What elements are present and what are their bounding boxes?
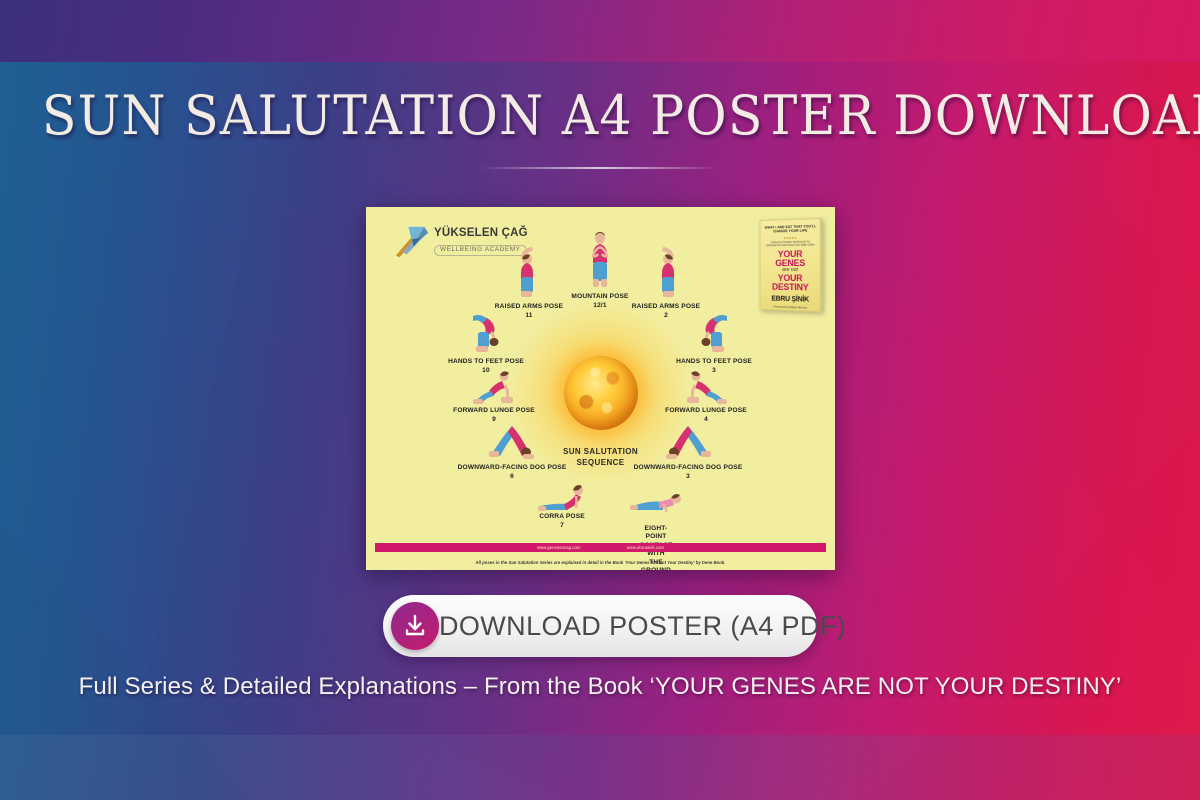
brand-subtitle: WELLBEING ACADEMY — [434, 245, 527, 256]
yoga-figure-icon — [471, 369, 517, 405]
pose-number: 12/1 — [571, 302, 628, 311]
yoga-figure-icon — [469, 312, 503, 358]
background-band-top — [0, 0, 1200, 62]
pose-number: 6 — [458, 473, 567, 482]
book-cover: WHAT I AND EAT THAT YOU'LL CHANGE YOUR L… — [760, 218, 822, 312]
title-block: SUN SALUTATION A4 POSTER DOWNLOAD — [0, 84, 1200, 169]
yoga-figure-icon — [536, 482, 588, 512]
pose-label: FORWARD LUNGE POSE 4 — [665, 407, 747, 424]
pose-label-text: MOUNTAIN POSE — [571, 293, 628, 300]
book-title-line-1: YOUR GENES — [764, 249, 817, 268]
book-blurb: A REVOLUTIONARY APPROACH TO EPIGENETICS … — [764, 240, 817, 247]
pose-label-text: HANDS TO FEET POSE — [676, 358, 752, 365]
sequence-caption-line-1: SUN SALUTATION — [563, 447, 638, 456]
sequence-caption: SUN SALUTATION SEQUENCE — [563, 447, 638, 469]
yoga-figure-icon — [663, 423, 713, 463]
yoga-figure-icon — [697, 312, 731, 358]
background-band-bottom — [0, 735, 1200, 800]
yoga-figure-icon — [514, 243, 544, 299]
pose-label-text: HANDS TO FEET POSE — [448, 358, 524, 365]
download-poster-button[interactable]: DOWNLOAD POSTER (A4 PDF) — [383, 595, 817, 657]
pose-label: RAISED ARMS POSE 11 — [495, 303, 563, 320]
pose-number: 7 — [539, 522, 585, 531]
yoga-figure-icon — [627, 490, 685, 514]
title-divider — [480, 167, 720, 169]
pose-number: 2 — [632, 312, 700, 321]
pose-label-text: DOWNWARD-FACING DOG POSE — [634, 464, 743, 471]
book-title-line-3: YOUR DESTINY — [764, 274, 817, 293]
yoga-figure-icon — [651, 243, 681, 299]
pose-number: 3 — [634, 473, 743, 482]
poster-footer-bar: www.genesencag.com www.ebrusinik.com — [375, 543, 826, 552]
download-arrow-icon — [391, 602, 439, 650]
pose-label-text: RAISED ARMS POSE — [495, 303, 563, 310]
footer-url-left: www.genesencag.com — [537, 545, 581, 550]
poster-footer-note: All poses in the Sun Salutation Series a… — [366, 560, 835, 565]
pose-label-text: FORWARD LUNGE POSE — [665, 407, 747, 414]
download-button-label: DOWNLOAD POSTER (A4 PDF) — [439, 611, 880, 642]
yoga-figure-icon — [587, 231, 613, 289]
pose-label-text: DOWNWARD-FACING DOG POSE — [458, 464, 567, 471]
yoga-figure-icon — [683, 369, 729, 405]
bird-arrow-icon — [394, 225, 430, 259]
pose-label: CORRA POSE 7 — [539, 513, 585, 530]
sun-illustration — [564, 356, 638, 430]
pose-label-text: FORWARD LUNGE POSE — [453, 407, 535, 414]
book-author: EBRU ŞİNİK — [764, 296, 817, 304]
yoga-figure-icon — [487, 423, 537, 463]
book-cover-face: WHAT I AND EAT THAT YOU'LL CHANGE YOUR L… — [760, 218, 822, 312]
footer-url-right: www.ebrusinik.com — [627, 545, 665, 550]
poster-preview[interactable]: YÜKSELEN ÇAĞ WELLBEING ACADEMY WHAT I AN… — [366, 207, 835, 570]
book-tagline: WHAT I AND EAT THAT YOU'LL CHANGE YOUR L… — [764, 224, 817, 234]
pose-label-text: RAISED ARMS POSE — [632, 303, 700, 310]
page-caption: Full Series & Detailed Explanations – Fr… — [0, 673, 1200, 701]
brand-logo: YÜKSELEN ÇAĞ WELLBEING ACADEMY — [394, 225, 528, 259]
pose-label-text: CORRA POSE — [539, 513, 585, 520]
pose-label: DOWNWARD-FACING DOG POSE 3 — [634, 464, 743, 481]
download-arrow-glyph — [402, 613, 428, 639]
sun-disc — [564, 356, 638, 430]
page-title: SUN SALUTATION A4 POSTER DOWNLOAD — [42, 84, 1158, 147]
poster-canvas: YÜKSELEN ÇAĞ WELLBEING ACADEMY WHAT I AN… — [366, 207, 835, 570]
pose-number: 11 — [495, 312, 563, 321]
pose-label: MOUNTAIN POSE 12/1 — [571, 293, 628, 310]
book-foreword: Foreword by Nilgün Mercan — [764, 304, 817, 310]
sequence-caption-line-2: SEQUENCE — [576, 458, 624, 467]
brand-name: YÜKSELEN ÇAĞ — [434, 228, 528, 240]
pose-label: RAISED ARMS POSE 2 — [632, 303, 700, 320]
pose-label: DOWNWARD-FACING DOG POSE 6 — [458, 464, 567, 481]
pose-label: FORWARD LUNGE POSE 9 — [453, 407, 535, 424]
